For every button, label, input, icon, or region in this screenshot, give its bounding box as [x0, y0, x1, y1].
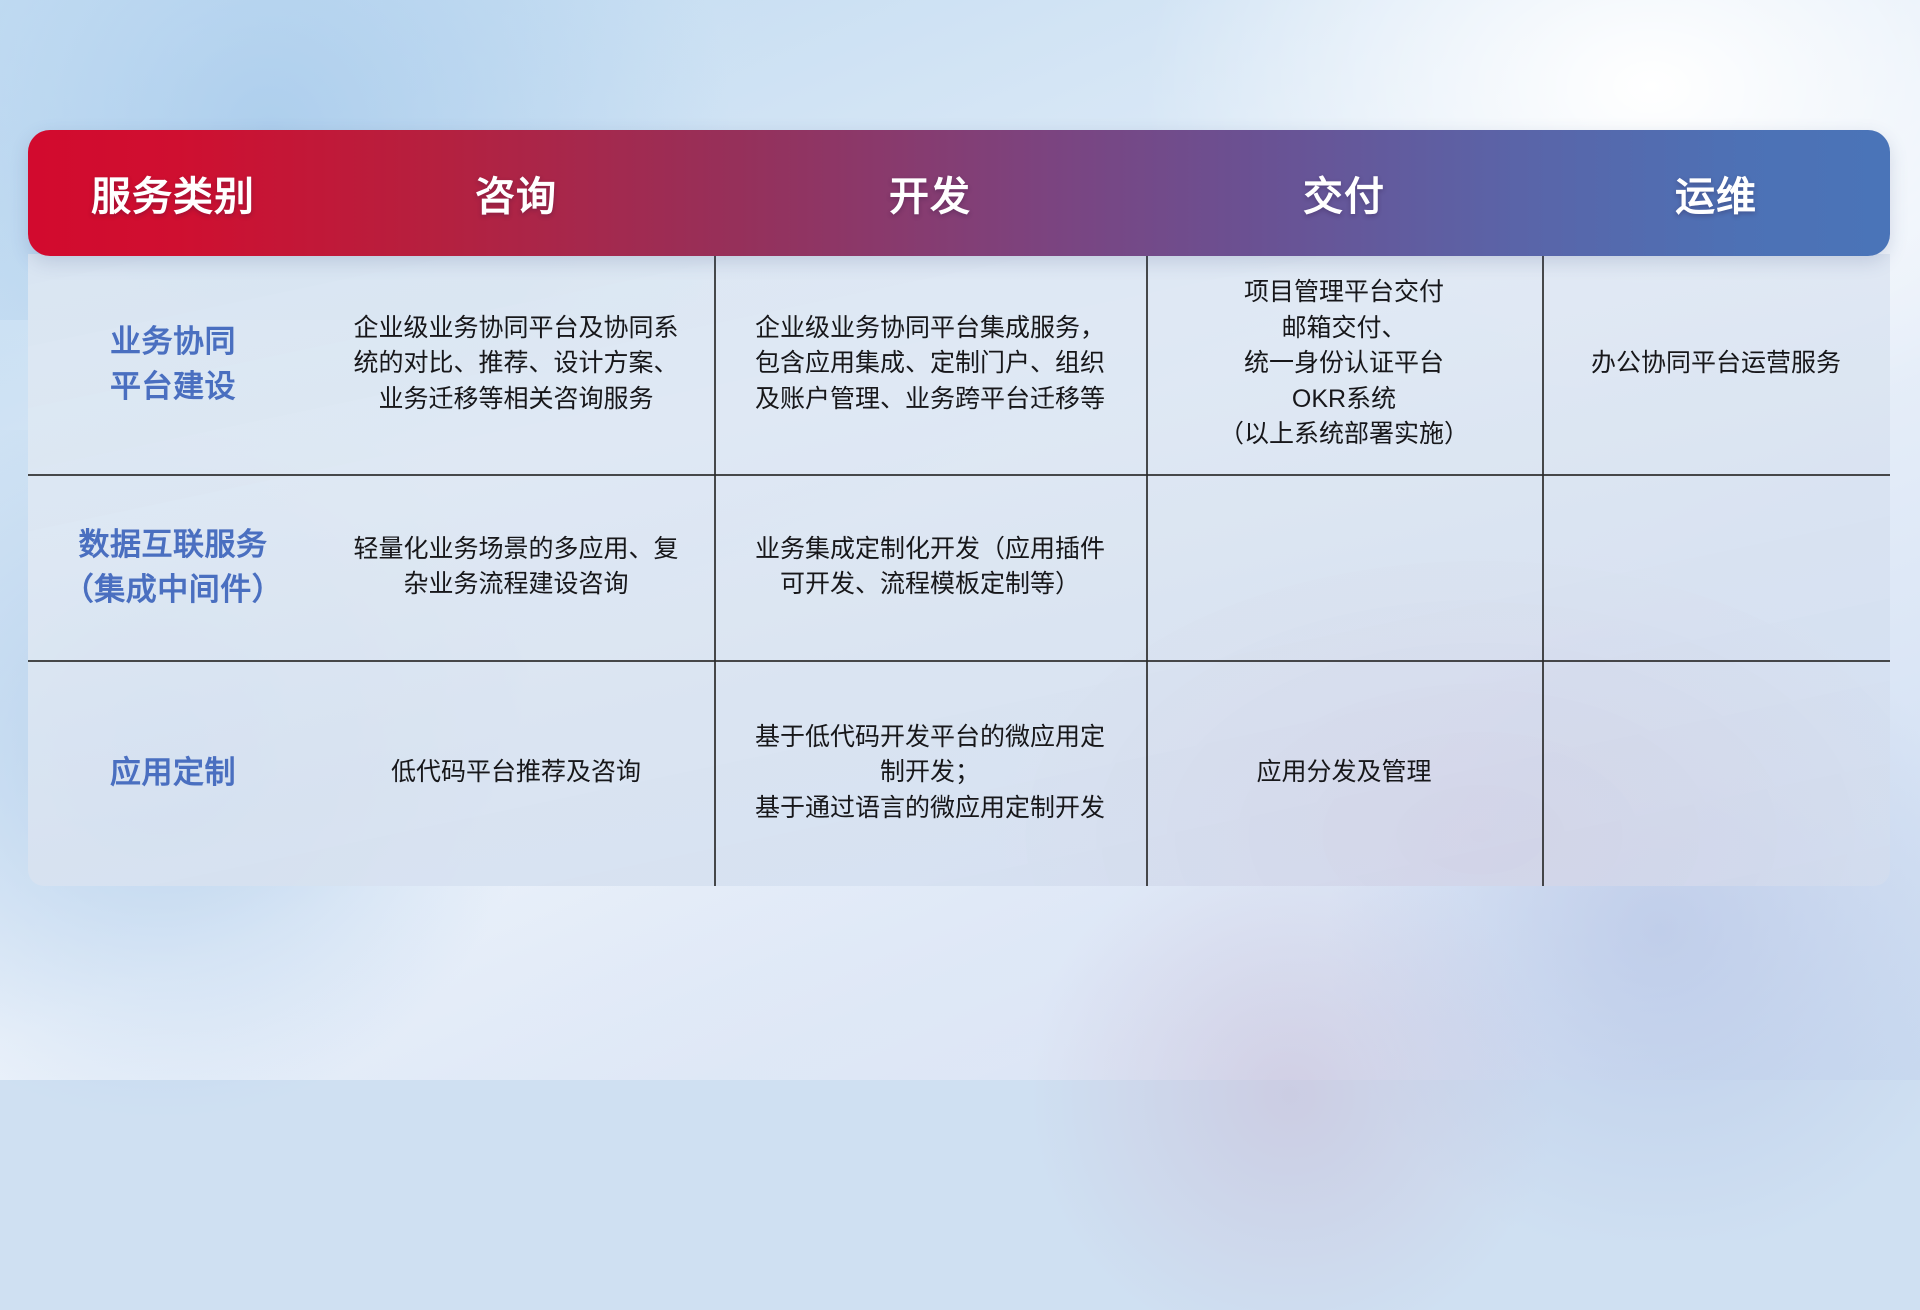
cell-operations-3: [1542, 660, 1890, 886]
cell-delivery-2: [1146, 474, 1542, 660]
cell-development-3: 基于低代码开发平台的微应用定 制开发； 基于通过语言的微应用定制开发: [714, 660, 1146, 886]
table-header-row: 服务类别 咨询 开发 交付 运维: [28, 130, 1890, 256]
column-header-operations: 运维: [1542, 130, 1890, 256]
cell-consulting-1: 企业级业务协同平台及协同系 统的对比、推荐、设计方案、 业务迁移等相关咨询服务: [318, 254, 714, 474]
cell-delivery-3: 应用分发及管理: [1146, 660, 1542, 886]
cell-operations-1: 办公协同平台运营服务: [1542, 254, 1890, 474]
cell-category-2: 数据互联服务 （集成中间件）: [28, 474, 318, 660]
column-header-consulting: 咨询: [318, 130, 714, 256]
background-glow-bottom: [980, 880, 1600, 1310]
column-header-delivery: 交付: [1146, 130, 1542, 256]
table-row: 数据互联服务 （集成中间件） 轻量化业务场景的多应用、复 杂业务流程建设咨询 业…: [28, 474, 1890, 660]
cell-development-2: 业务集成定制化开发（应用插件 可开发、流程模板定制等）: [714, 474, 1146, 660]
cell-development-1: 企业级业务协同平台集成服务， 包含应用集成、定制门户、组织 及账户管理、业务跨平…: [714, 254, 1146, 474]
cell-delivery-1: 项目管理平台交付 邮箱交付、 统一身份认证平台 OKR系统 （以上系统部署实施）: [1146, 254, 1542, 474]
table-row: 应用定制 低代码平台推荐及咨询 基于低代码开发平台的微应用定 制开发； 基于通过…: [28, 660, 1890, 886]
cell-category-3: 应用定制: [28, 660, 318, 886]
cell-operations-2: [1542, 474, 1890, 660]
cell-category-1: 业务协同 平台建设: [28, 254, 318, 474]
column-header-development: 开发: [714, 130, 1146, 256]
column-header-category: 服务类别: [28, 130, 318, 256]
table-row: 业务协同 平台建设 企业级业务协同平台及协同系 统的对比、推荐、设计方案、 业务…: [28, 254, 1890, 474]
cell-consulting-2: 轻量化业务场景的多应用、复 杂业务流程建设咨询: [318, 474, 714, 660]
table-body: 业务协同 平台建设 企业级业务协同平台及协同系 统的对比、推荐、设计方案、 业务…: [28, 254, 1890, 886]
cell-consulting-3: 低代码平台推荐及咨询: [318, 660, 714, 886]
service-matrix-table: 服务类别 咨询 开发 交付 运维 业务协同 平台建设 企业级业务协同平台及协同系…: [28, 130, 1890, 886]
